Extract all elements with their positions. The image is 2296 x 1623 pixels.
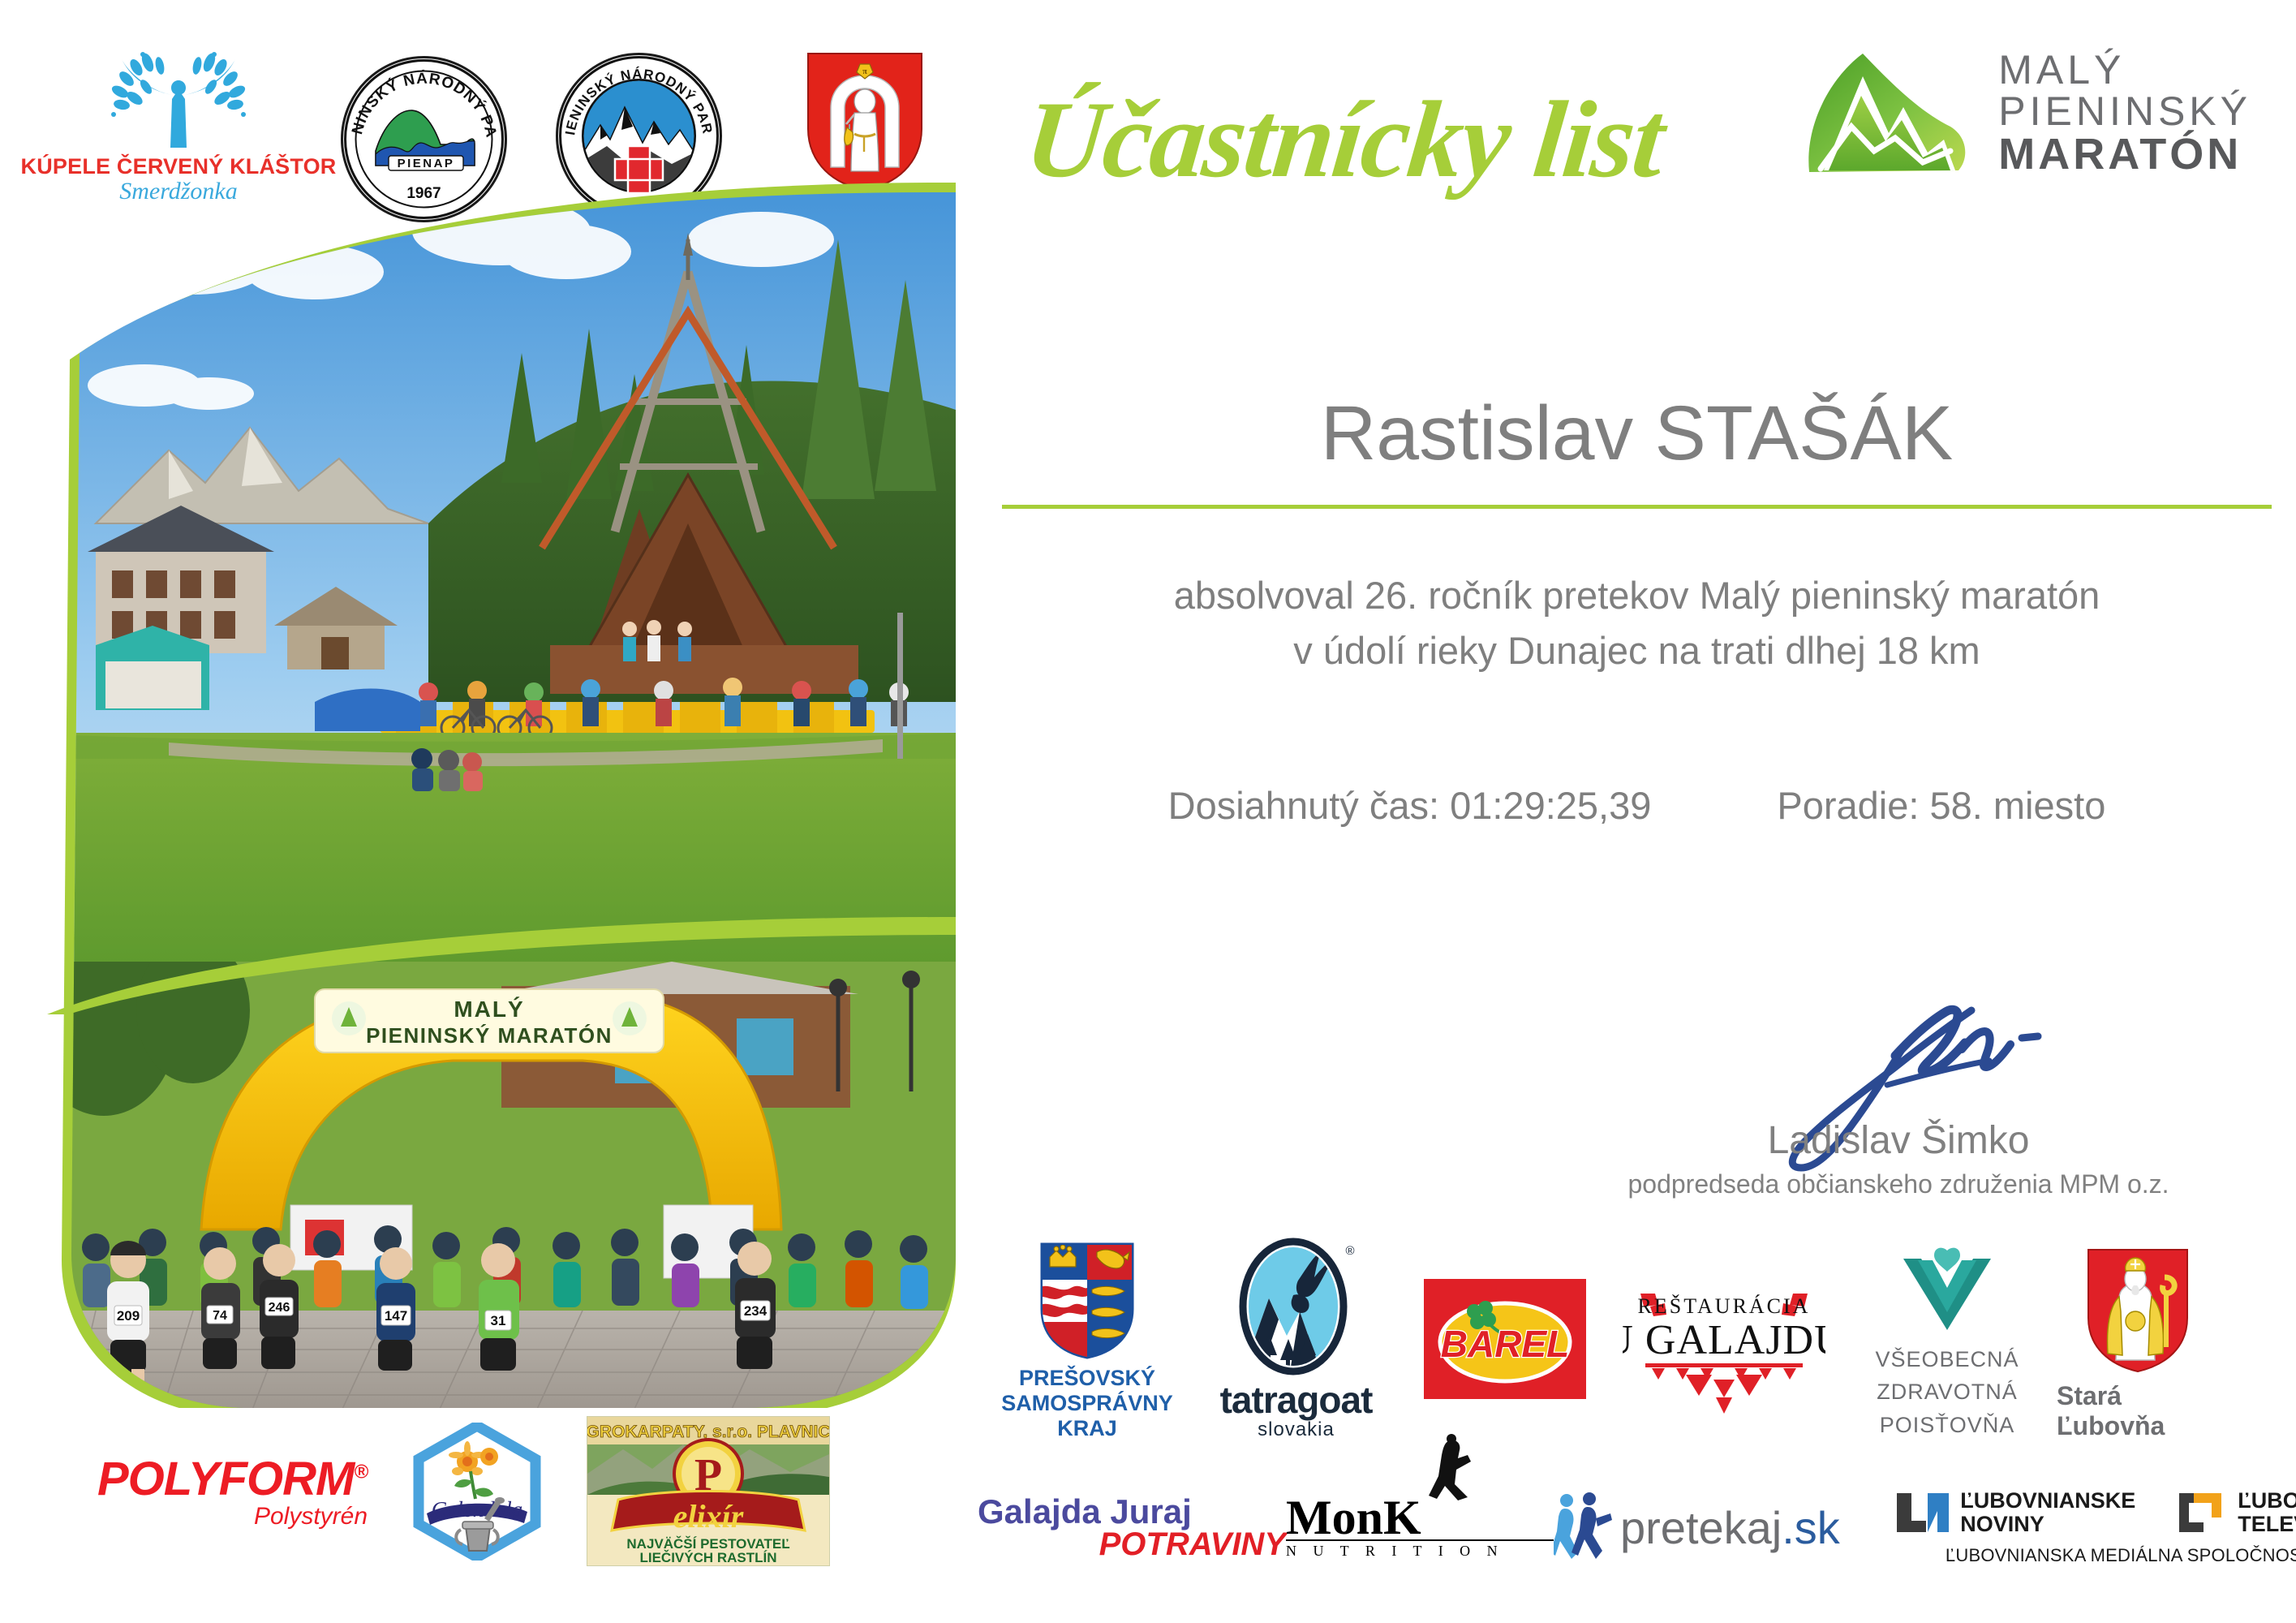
water-angel-icon bbox=[97, 45, 260, 154]
polyform-name: POLYFORM bbox=[97, 1453, 354, 1505]
barel-wordmark: BAREL bbox=[1441, 1323, 1569, 1365]
svg-text:246: 246 bbox=[269, 1301, 290, 1315]
runners-icon bbox=[1554, 1491, 1614, 1565]
ln-mark-icon bbox=[1894, 1490, 1950, 1535]
svg-text:147: 147 bbox=[385, 1308, 407, 1324]
svg-text:74: 74 bbox=[213, 1309, 227, 1323]
description-line-2: v údolí rieky Dunajec na trati dlhej 18 … bbox=[1002, 623, 2272, 678]
sponsor-u-galajdu: REŠTAURÁCIA U GALAJDU bbox=[1610, 1279, 1838, 1441]
tatragoat-reg: ® bbox=[1345, 1244, 1354, 1258]
folk-pattern-icon bbox=[1645, 1363, 1803, 1414]
lt-mark-icon bbox=[2176, 1490, 2228, 1535]
polyform-wordmark: POLYFORM® bbox=[97, 1452, 368, 1506]
lt-line2: TELEVÍZIA bbox=[2238, 1513, 2296, 1536]
ugalajdu-line1: REŠTAURÁCIA bbox=[1638, 1294, 1811, 1318]
photo-venue bbox=[47, 142, 956, 962]
sponsor-stara-lubovna: Stará Ľubovňa bbox=[2057, 1246, 2219, 1441]
svg-text:PIENINSKÝ MARATÓN: PIENINSKÝ MARATÓN bbox=[366, 1023, 613, 1048]
bishop-coat-of-arms-icon bbox=[2085, 1246, 2191, 1376]
psk-line3: KRAJ bbox=[1001, 1416, 1173, 1441]
calendula-wordmark: Calendula bbox=[432, 1497, 523, 1522]
sponsor-barel: BAREL bbox=[1400, 1279, 1610, 1441]
rank-position: Poradie: 58. miesto bbox=[1777, 783, 2105, 828]
mountain-leaf-logo bbox=[1799, 49, 1974, 179]
hexagon-flower-mortar-icon: Calendula bbox=[412, 1423, 542, 1561]
lms-label: ĽUBOVNIANSKA MEDIÁLNA SPOLOČNOSŤ, s.r.o. bbox=[1878, 1545, 2296, 1566]
ln-line1: ĽUBOVNIANSKE bbox=[1960, 1489, 2135, 1513]
sponsor-galajda-juraj: Galajda Juraj POTRAVINY bbox=[978, 1492, 1286, 1563]
polyform-tagline: Polystyrén bbox=[97, 1503, 368, 1530]
certificate-description: absolvoval 26. ročník pretekov Malý pien… bbox=[1002, 568, 2272, 678]
monk-sub: N U T R I T I O N bbox=[1286, 1539, 1554, 1560]
tatragoat-wordmark: tatragoat bbox=[1220, 1378, 1373, 1422]
pretekaj-tld: .sk bbox=[1782, 1502, 1840, 1553]
page-title: Účastnícky list bbox=[1020, 77, 1669, 203]
monk-wordmark: MonK bbox=[1286, 1496, 1554, 1539]
agro-line2: LIEČIVÝCH RASTLÍN bbox=[640, 1550, 777, 1565]
signature-role: podpredseda občianskeho združenia MPM o.… bbox=[1615, 1169, 2182, 1199]
svg-text:MALÝ: MALÝ bbox=[454, 997, 524, 1022]
ugalajdu-line2: U GALAJDU bbox=[1623, 1317, 1825, 1363]
vzp-line3: POISŤOVŇA bbox=[1875, 1409, 2019, 1442]
vzp-line2: ZDRAVOTNÁ bbox=[1875, 1375, 2019, 1409]
sponsor-polyform: POLYFORM® Polystyrén bbox=[97, 1452, 368, 1530]
polyform-reg: ® bbox=[354, 1462, 368, 1483]
sponsor-calendula: Calendula bbox=[412, 1423, 542, 1561]
svg-text:31: 31 bbox=[491, 1313, 506, 1328]
svg-text:π: π bbox=[862, 67, 867, 76]
sponsor-vzp: VŠEOBECNÁ ZDRAVOTNÁ POISŤOVŇA bbox=[1838, 1246, 2057, 1442]
signature-block: Ladislav Šimko podpredseda občianskeho z… bbox=[1615, 998, 2182, 1199]
vzp-line1: VŠEOBECNÁ bbox=[1875, 1343, 2019, 1376]
lt-line1: ĽUBOVNIANSKA bbox=[2238, 1489, 2296, 1513]
ln-line2: NOVINY bbox=[1960, 1513, 2135, 1536]
sponsor-presovsky-kraj: PREŠOVSKÝ SAMOSPRÁVNY KRAJ bbox=[982, 1241, 1193, 1441]
tatragoat-sub: slovakia bbox=[1258, 1419, 1335, 1441]
name-underline-rule bbox=[1002, 505, 2272, 509]
photo-runners-start: MALÝ PIENINSKÝ MARATÓN bbox=[47, 962, 956, 1416]
svg-text:209: 209 bbox=[117, 1308, 140, 1324]
result-stats: Dosiahnutý čas: 01:29:25,39 Poradie: 58.… bbox=[1002, 783, 2272, 828]
galajda-line2: POTRAVINY bbox=[978, 1526, 1286, 1563]
svg-text:234: 234 bbox=[744, 1303, 767, 1319]
signature-name: Ladislav Šimko bbox=[1615, 1118, 2182, 1163]
sponsor-lubovnianska-medialna: ĽUBOVNIANSKE NOVINY ĽUBOVNIANSKA TELEVÍZ… bbox=[1878, 1489, 2296, 1566]
psk-line1: PREŠOVSKÝ bbox=[1001, 1366, 1173, 1391]
elixir-wordmark: elixír bbox=[673, 1498, 744, 1535]
participant-name: Rastislav STAŠÁK bbox=[1002, 390, 2272, 478]
event-brand-logo: MALÝ PIENINSKÝ MARATÓN bbox=[1799, 49, 2251, 179]
photo-collage: MALÝ PIENINSKÝ MARATÓN bbox=[47, 142, 956, 1408]
description-line-1: absolvoval 26. ročník pretekov Malý pien… bbox=[1002, 568, 2272, 623]
pretekaj-name: pretekaj bbox=[1620, 1502, 1782, 1553]
brand-line2: PIENINSKÝ bbox=[1998, 91, 2251, 132]
psk-line2: SAMOSPRÁVNY bbox=[1001, 1391, 1173, 1416]
sponsor-row-right-1: PREŠOVSKÝ SAMOSPRÁVNY KRAJ bbox=[982, 1233, 2219, 1441]
brand-line1: MALÝ bbox=[1998, 50, 2251, 91]
stara-lubovna-label: Stará Ľubovňa bbox=[2057, 1381, 2219, 1441]
shield-coat-icon bbox=[1038, 1241, 1136, 1361]
finish-time: Dosiahnutý čas: 01:29:25,39 bbox=[1168, 783, 1652, 828]
vzp-label: VŠEOBECNÁ ZDRAVOTNÁ POISŤOVŇA bbox=[1875, 1343, 2019, 1442]
v-heart-icon bbox=[1898, 1246, 1996, 1337]
sponsor-agrokarpaty-elixir: AGROKARPATY, s.r.o. PLAVNICA P elixír NA… bbox=[587, 1416, 830, 1566]
running-monk-icon bbox=[1422, 1434, 1479, 1502]
chamois-mountain-icon: ® bbox=[1236, 1233, 1357, 1376]
sponsor-monk-nutrition: MonK N U T R I T I O N bbox=[1286, 1496, 1554, 1560]
sponsor-row-left: POLYFORM® Polystyrén Calendula bbox=[97, 1416, 830, 1566]
psk-label: PREŠOVSKÝ SAMOSPRÁVNY KRAJ bbox=[1001, 1366, 1173, 1441]
sponsor-tatragoat: ® tatragoat slovakia bbox=[1193, 1233, 1400, 1441]
sponsor-row-right-2: Galajda Juraj POTRAVINY MonK N U T R I T… bbox=[978, 1489, 2296, 1566]
sponsor-lubovnianska-televizia: ĽUBOVNIANSKA TELEVÍZIA bbox=[2176, 1489, 2296, 1535]
galajda-line1: Galajda Juraj bbox=[978, 1492, 1286, 1531]
brand-line3: MARATÓN bbox=[1998, 132, 2251, 177]
sponsor-pretekaj-sk: pretekaj.sk bbox=[1554, 1491, 1878, 1565]
pretekaj-wordmark: pretekaj.sk bbox=[1620, 1501, 1840, 1554]
sponsor-lubovnianske-noviny: ĽUBOVNIANSKE NOVINY bbox=[1894, 1489, 2135, 1535]
certificate-page: KÚPELE ČERVENÝ KLÁŠTOR Smerdžonka PIENIN… bbox=[0, 0, 2296, 1623]
